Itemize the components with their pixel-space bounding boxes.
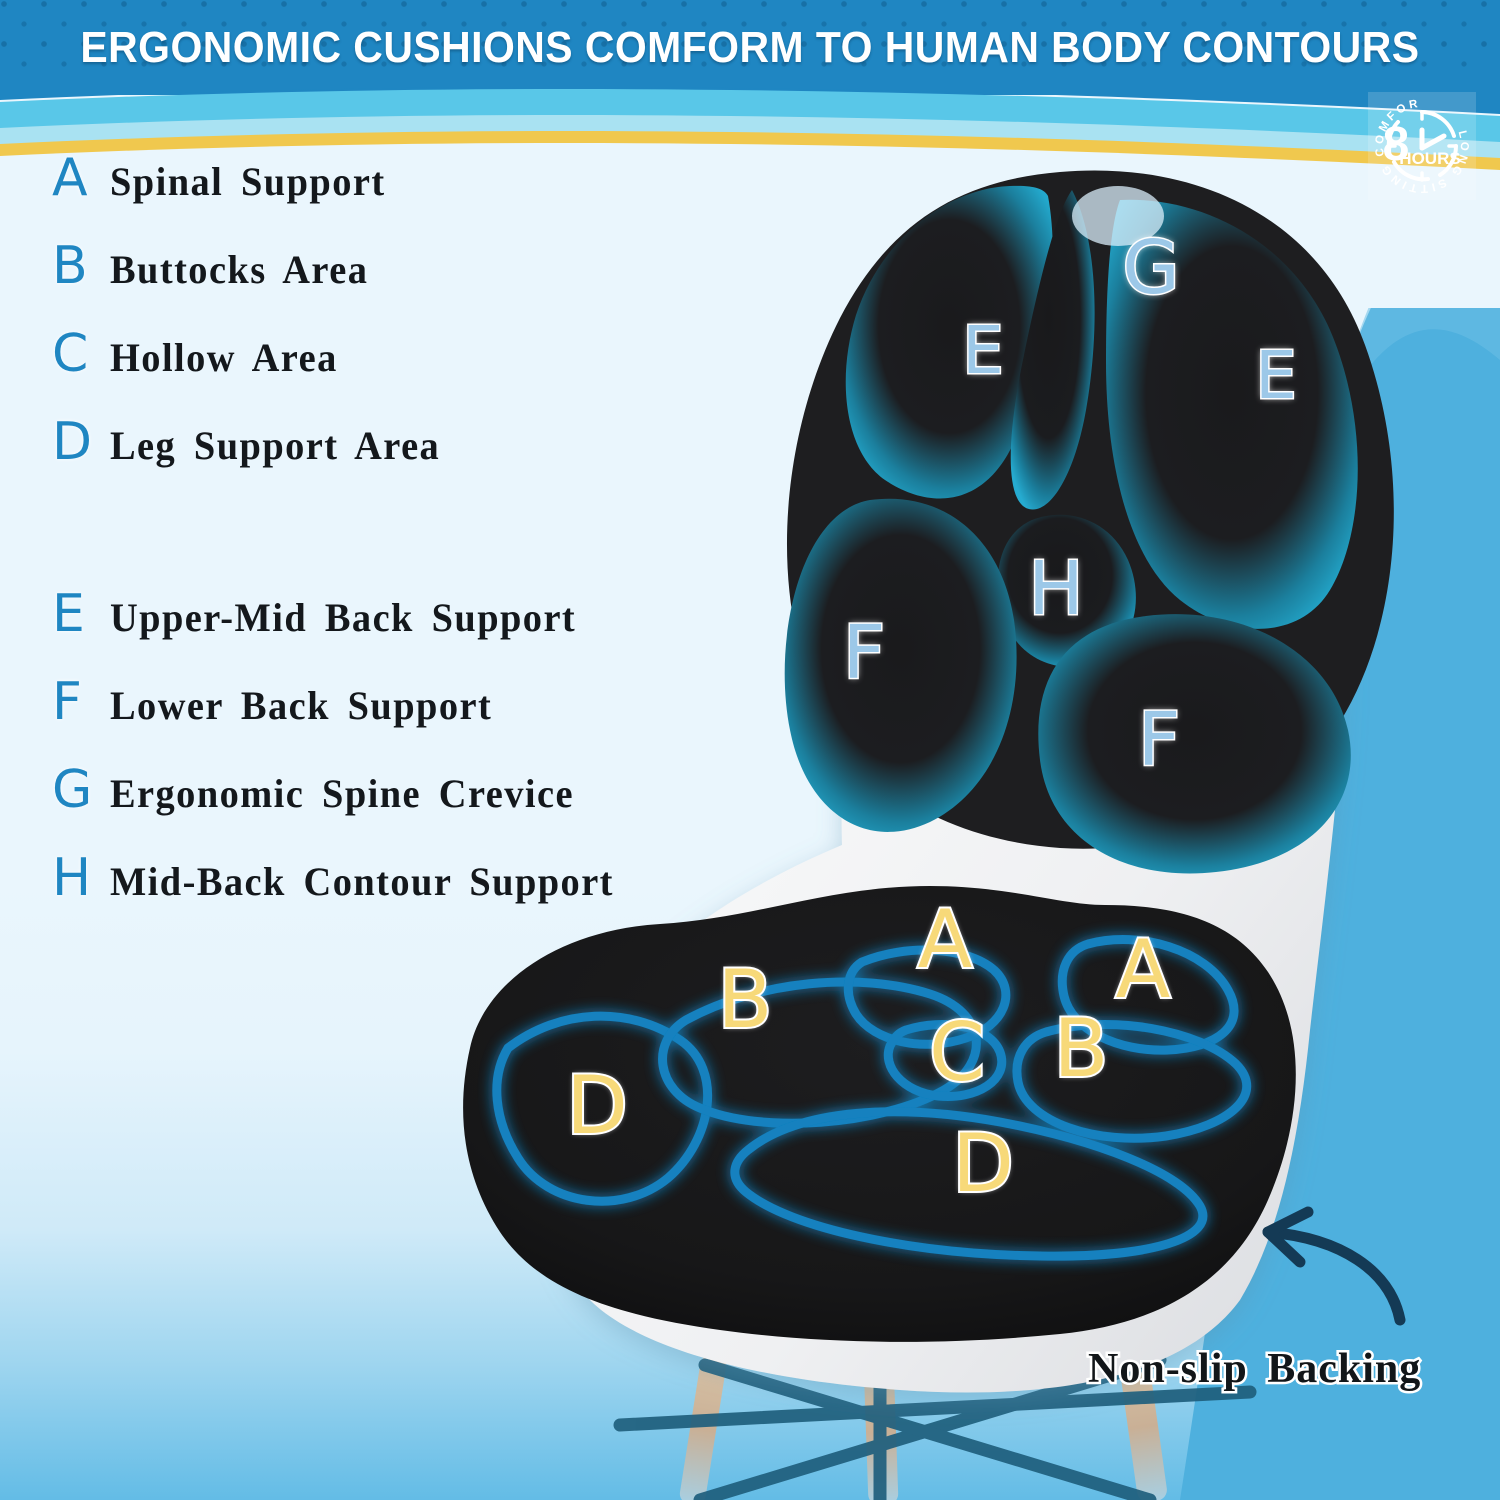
seat-marker-d-mid: D <box>952 1124 1014 1204</box>
seat-marker-c: C <box>929 1013 985 1093</box>
back-marker-f-left: F <box>843 616 886 690</box>
back-marker-f-right: F <box>1138 703 1181 777</box>
back-marker-h: H <box>1028 552 1084 626</box>
back-marker-e-left: E <box>962 318 1004 384</box>
non-slip-arrow-icon <box>1268 1212 1400 1320</box>
seat-marker-a-mid: A <box>918 900 973 980</box>
back-marker-g: G <box>1122 231 1179 305</box>
seat-marker-a-right: A <box>1116 930 1171 1010</box>
back-marker-e-right: E <box>1255 343 1297 409</box>
product-illustration <box>0 0 1500 1500</box>
infographic-canvas: ERGONOMIC CUSHIONS COMFORM TO HUMAN BODY… <box>0 0 1500 1500</box>
back-cushion <box>785 170 1394 873</box>
seat-marker-b-left: B <box>718 960 773 1040</box>
seat-marker-d-left: D <box>566 1066 628 1146</box>
seat-marker-b-right: B <box>1054 1009 1109 1089</box>
non-slip-backing-label: Non-slip Backing <box>1088 1345 1421 1393</box>
